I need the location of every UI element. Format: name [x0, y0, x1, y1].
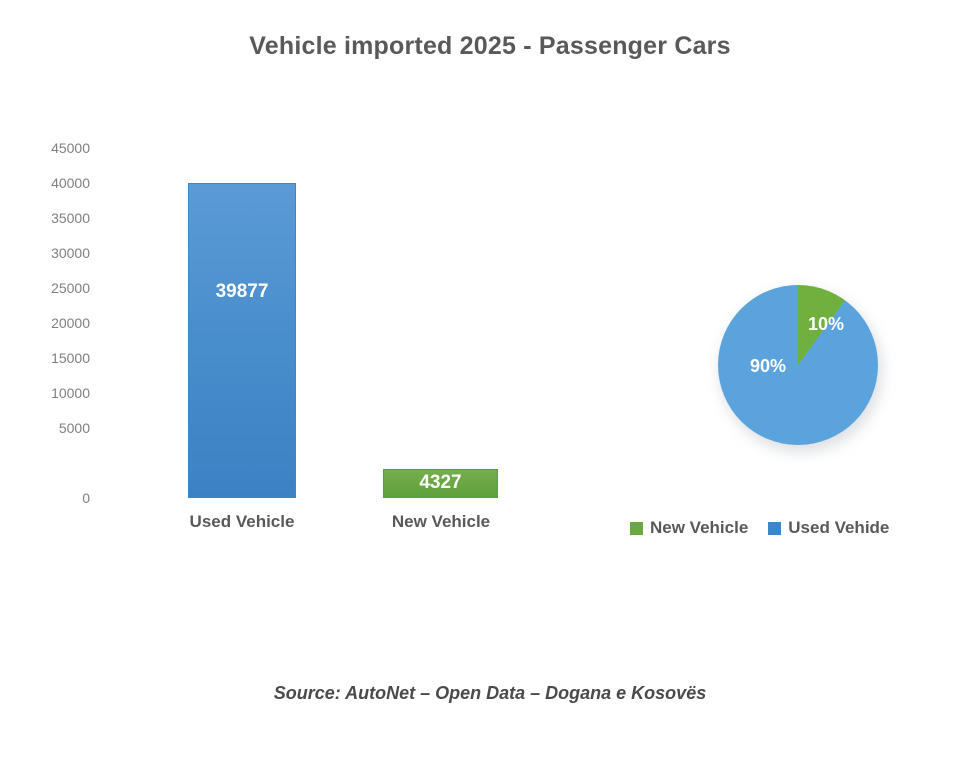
x-category-label-new-vehicle: New Vehicle	[361, 512, 521, 532]
pie-label-used-vehicle: 90%	[750, 356, 786, 377]
legend-label: Used Vehide	[788, 518, 889, 538]
pie-chart: 10% 90%	[600, 250, 980, 560]
y-tick-label: 5000	[12, 421, 90, 435]
y-tick-label: 20000	[12, 316, 90, 330]
pie-legend: New Vehicle Used Vehide	[630, 518, 889, 538]
y-tick-label: 15000	[12, 351, 90, 365]
y-tick-label: 10000	[12, 386, 90, 400]
y-axis: 45000 40000 35000 30000 25000 20000 1500…	[12, 0, 90, 560]
pie-slices[interactable]	[718, 285, 878, 445]
y-tick-label: 40000	[12, 176, 90, 190]
y-tick-label: 30000	[12, 246, 90, 260]
legend-label: New Vehicle	[650, 518, 748, 538]
legend-swatch-icon	[768, 522, 781, 535]
bar-used-vehicle[interactable]	[188, 183, 296, 498]
bar-value-label-new-vehicle: 4327	[383, 472, 498, 494]
y-tick-label: 45000	[12, 141, 90, 155]
pie-label-new-vehicle: 10%	[808, 314, 844, 335]
legend-swatch-icon	[630, 522, 643, 535]
legend-item-used-vehicle[interactable]: Used Vehide	[768, 518, 889, 538]
y-tick-label: 25000	[12, 281, 90, 295]
y-tick-label: 0	[12, 491, 90, 505]
bar-chart: 45000 40000 35000 30000 25000 20000 1500…	[0, 0, 560, 560]
bar-value-label-used-vehicle: 39877	[188, 281, 296, 303]
chart-figure: Vehicle imported 2025 - Passenger Cars 4…	[0, 0, 980, 758]
x-category-label-used-vehicle: Used Vehicle	[162, 512, 322, 532]
source-note: Source: AutoNet – Open Data – Dogana e K…	[0, 683, 980, 704]
legend-item-new-vehicle[interactable]: New Vehicle	[630, 518, 748, 538]
y-tick-label: 35000	[12, 211, 90, 225]
